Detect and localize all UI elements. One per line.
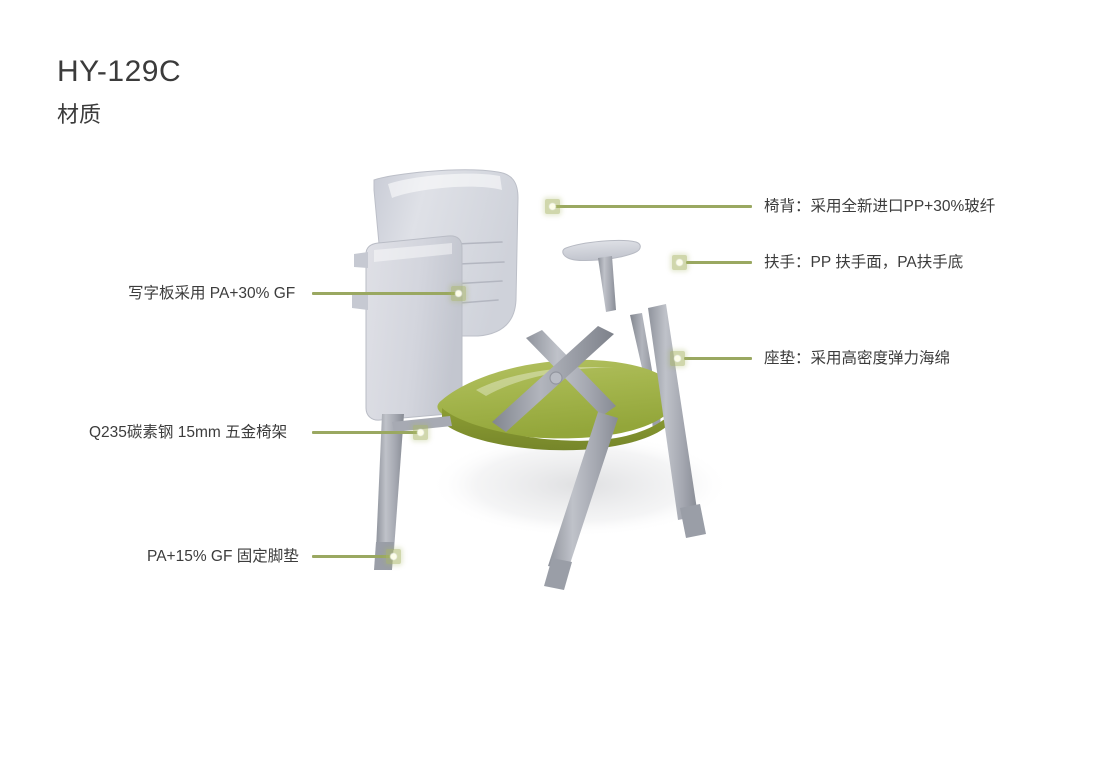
callout-marker-armrest[interactable]	[672, 255, 687, 270]
leader-line-writing-board	[312, 292, 456, 295]
writing-tablet	[366, 236, 462, 420]
callout-text-backrest: 椅背：采用全新进口PP+30%玻纤	[764, 196, 995, 217]
callout-marker-foot-pad[interactable]	[386, 549, 401, 564]
leader-line-backrest	[552, 205, 752, 208]
callout-marker-seat[interactable]	[670, 351, 685, 366]
callout-marker-backrest[interactable]	[545, 199, 560, 214]
tablet-mount-upper	[354, 252, 368, 268]
leader-line-foot-pad	[312, 555, 394, 558]
chair-armrest-post	[598, 256, 616, 312]
callout-text-foot-pad: PA+15% GF 固定脚垫	[147, 546, 299, 567]
callout-marker-writing-board[interactable]	[451, 286, 466, 301]
callout-text-writing-board: 写字板采用 PA+30% GF	[128, 283, 295, 304]
title-block: HY-129C 材质	[57, 52, 181, 132]
callout-text-armrest: 扶手：PP 扶手面，PA扶手底	[764, 252, 963, 273]
frame-pivot-bolt	[550, 372, 562, 384]
callout-text-frame: Q235碳素钢 15mm 五金椅架	[89, 422, 287, 443]
product-spec-page: HY-129C 材质	[0, 0, 1100, 777]
chair-leg-front-left	[376, 414, 404, 550]
leader-line-seat	[684, 357, 752, 360]
page-title: HY-129C	[57, 52, 181, 92]
leader-line-frame	[312, 431, 420, 434]
section-label: 材质	[57, 98, 181, 132]
callout-text-seat: 座垫：采用高密度弹力海绵	[764, 348, 950, 369]
chair-armrest-pad	[563, 240, 640, 260]
leader-line-armrest	[686, 261, 752, 264]
chair-leg-front-right-foot	[544, 558, 572, 590]
callout-marker-frame[interactable]	[413, 425, 428, 440]
